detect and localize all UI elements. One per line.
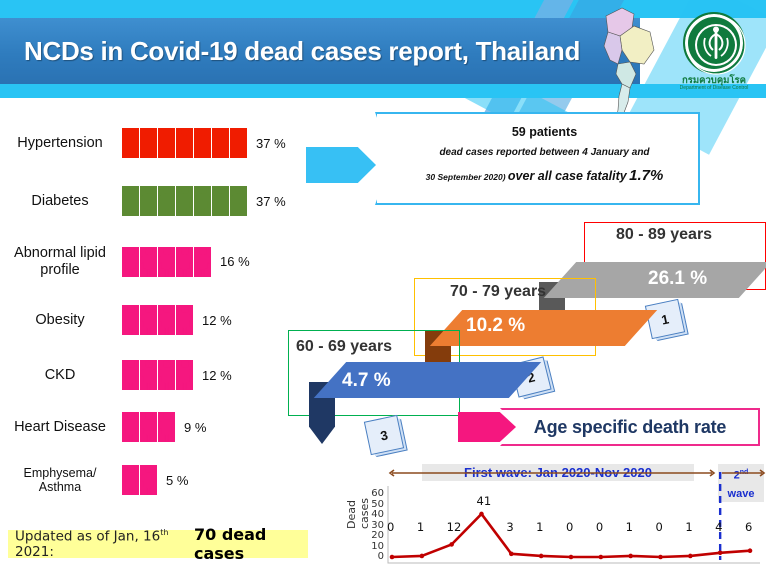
risk-factor-label: Diabetes (2, 193, 122, 210)
person-icon (140, 247, 157, 277)
logo-english-text: Department of Disease Control (676, 86, 752, 91)
risk-factor-percent: 37 % (256, 194, 286, 209)
infographic-canvas: NCDs in Covid-19 dead cases report, Thai… (0, 0, 766, 567)
moph-logo-emblem-icon (683, 12, 745, 74)
risk-factor-percent: 12 % (202, 313, 232, 328)
risk-factor-row: Hypertension37 % (2, 128, 286, 158)
risk-factor-row: Obesity12 % (2, 305, 232, 335)
line-chart-data-label: 0 (596, 520, 603, 534)
person-icon (176, 186, 193, 216)
line-chart-y-tick: 20 (364, 531, 384, 541)
risk-factor-icon-group (122, 128, 247, 158)
line-chart-data-label: 0 (566, 520, 573, 534)
callout-arrow-icon (306, 147, 376, 183)
line-chart-data-label: 0 (387, 520, 394, 534)
line-chart-data-label: 6 (745, 520, 752, 534)
risk-factor-row: Emphysema/ Asthma5 % (2, 465, 188, 495)
updated-footer: Updated as of Jan, 16th 2021: 70 dead ca… (8, 530, 308, 558)
dead-cases-line-chart: Dead cases First wave: Jan 2020-Nov 2020… (330, 462, 766, 567)
risk-factor-label: Emphysema/ Asthma (2, 466, 122, 495)
risk-factor-row: Heart Disease9 % (2, 412, 206, 442)
age-bar-value: 26.1 % (648, 268, 707, 290)
line-chart-y-tick: 50 (364, 500, 384, 510)
risk-factor-icon-group (122, 186, 247, 216)
dead-cases-count: 70 dead cases (194, 525, 308, 563)
line-chart-data-label: 1 (417, 520, 424, 534)
callout-date-end: 30 September 2020) (426, 172, 506, 182)
person-icon (176, 360, 193, 390)
updated-year: 2021: (15, 544, 54, 560)
age-bar (430, 310, 657, 346)
age-bar-label: 60 - 69 years (296, 338, 392, 356)
person-icon (158, 186, 175, 216)
person-icon (122, 247, 139, 277)
moph-logo: กรมควบคุมโรค Department of Disease Contr… (676, 12, 752, 106)
person-icon (158, 128, 175, 158)
line-chart-data-label: 12 (447, 520, 462, 534)
age-bar-label: 70 - 79 years (450, 283, 546, 301)
callout-fatality-line: 30 September 2020) over all case fatalit… (401, 167, 688, 184)
updated-superscript: th (160, 528, 168, 537)
person-icon (122, 412, 139, 442)
updated-label: Updated as of Jan, 16th 2021: (15, 528, 190, 561)
age-rate-banner-label: Age specific death rate (534, 417, 726, 438)
age-bar-value: 10.2 % (466, 315, 525, 337)
age-band-badge: 3 (364, 415, 404, 455)
person-icon (140, 412, 157, 442)
updated-prefix: Updated as of Jan, 16 (15, 528, 160, 544)
age-rate-banner: Age specific death rate (500, 408, 760, 446)
risk-factor-label: Obesity (2, 312, 122, 329)
callout-fatality-value: 1.7% (629, 167, 663, 184)
line-chart-y-tick: 0 (364, 552, 384, 562)
risk-factor-percent: 16 % (220, 254, 250, 269)
person-icon (158, 412, 175, 442)
risk-factor-percent: 9 % (184, 420, 206, 435)
person-icon (140, 128, 157, 158)
risk-factor-label: Abnormal lipid profile (2, 245, 122, 278)
callout-fatality-label: over all case fatality (508, 169, 627, 183)
person-icon (140, 186, 157, 216)
callout-subtext: dead cases reported between 4 January an… (401, 147, 688, 158)
risk-factor-icon-group (122, 465, 157, 495)
risk-factor-label: Heart Disease (2, 419, 122, 436)
line-chart-y-tick: 40 (364, 510, 384, 520)
person-icon (122, 305, 139, 335)
risk-factor-row: CKD12 % (2, 360, 232, 390)
risk-factor-row: Abnormal lipid profile16 % (2, 245, 250, 278)
person-icon (230, 128, 247, 158)
line-chart-y-tick: 30 (364, 521, 384, 531)
age-band-badge: 1 (645, 299, 685, 339)
page-title: NCDs in Covid-19 dead cases report, Thai… (0, 36, 580, 67)
risk-factor-icon-group (122, 360, 193, 390)
patients-callout: 59 patients dead cases reported between … (375, 112, 700, 205)
person-icon (212, 186, 229, 216)
person-icon (194, 128, 211, 158)
risk-factor-percent: 37 % (256, 136, 286, 151)
line-chart-y-tick: 10 (364, 542, 384, 552)
person-icon (122, 465, 139, 495)
person-icon (194, 186, 211, 216)
risk-factor-icon-group (122, 412, 175, 442)
risk-factor-icon-group (122, 305, 193, 335)
risk-factor-percent: 5 % (166, 473, 188, 488)
callout-patients-count: 59 patients (401, 125, 688, 139)
person-icon (140, 465, 157, 495)
risk-factor-percent: 12 % (202, 368, 232, 383)
person-icon (230, 186, 247, 216)
risk-factor-label: CKD (2, 367, 122, 384)
line-chart-data-label: 1 (626, 520, 633, 534)
age-bar-label: 80 - 89 years (616, 226, 712, 244)
risk-factor-row: Diabetes37 % (2, 186, 286, 216)
person-icon (176, 128, 193, 158)
person-icon (158, 247, 175, 277)
person-icon (158, 360, 175, 390)
line-chart-y-tick: 60 (364, 489, 384, 499)
person-icon (176, 247, 193, 277)
person-icon (122, 186, 139, 216)
person-icon (122, 128, 139, 158)
line-chart-data-label: 4 (715, 520, 722, 534)
title-bar: NCDs in Covid-19 dead cases report, Thai… (0, 18, 640, 84)
banner-arrow-icon (458, 412, 516, 442)
risk-factor-label: Hypertension (2, 135, 122, 152)
age-bar-value: 4.7 % (342, 370, 391, 392)
person-icon (140, 305, 157, 335)
line-chart-data-label: 1 (685, 520, 692, 534)
line-chart-data-label: 0 (656, 520, 663, 534)
person-icon (212, 128, 229, 158)
line-chart-data-label: 1 (536, 520, 543, 534)
person-icon (140, 360, 157, 390)
person-icon (176, 305, 193, 335)
line-chart-data-label: 41 (477, 494, 492, 508)
risk-factor-icon-group (122, 247, 211, 277)
line-chart-data-label: 3 (506, 520, 513, 534)
person-icon (158, 305, 175, 335)
person-icon (194, 247, 211, 277)
person-icon (122, 360, 139, 390)
